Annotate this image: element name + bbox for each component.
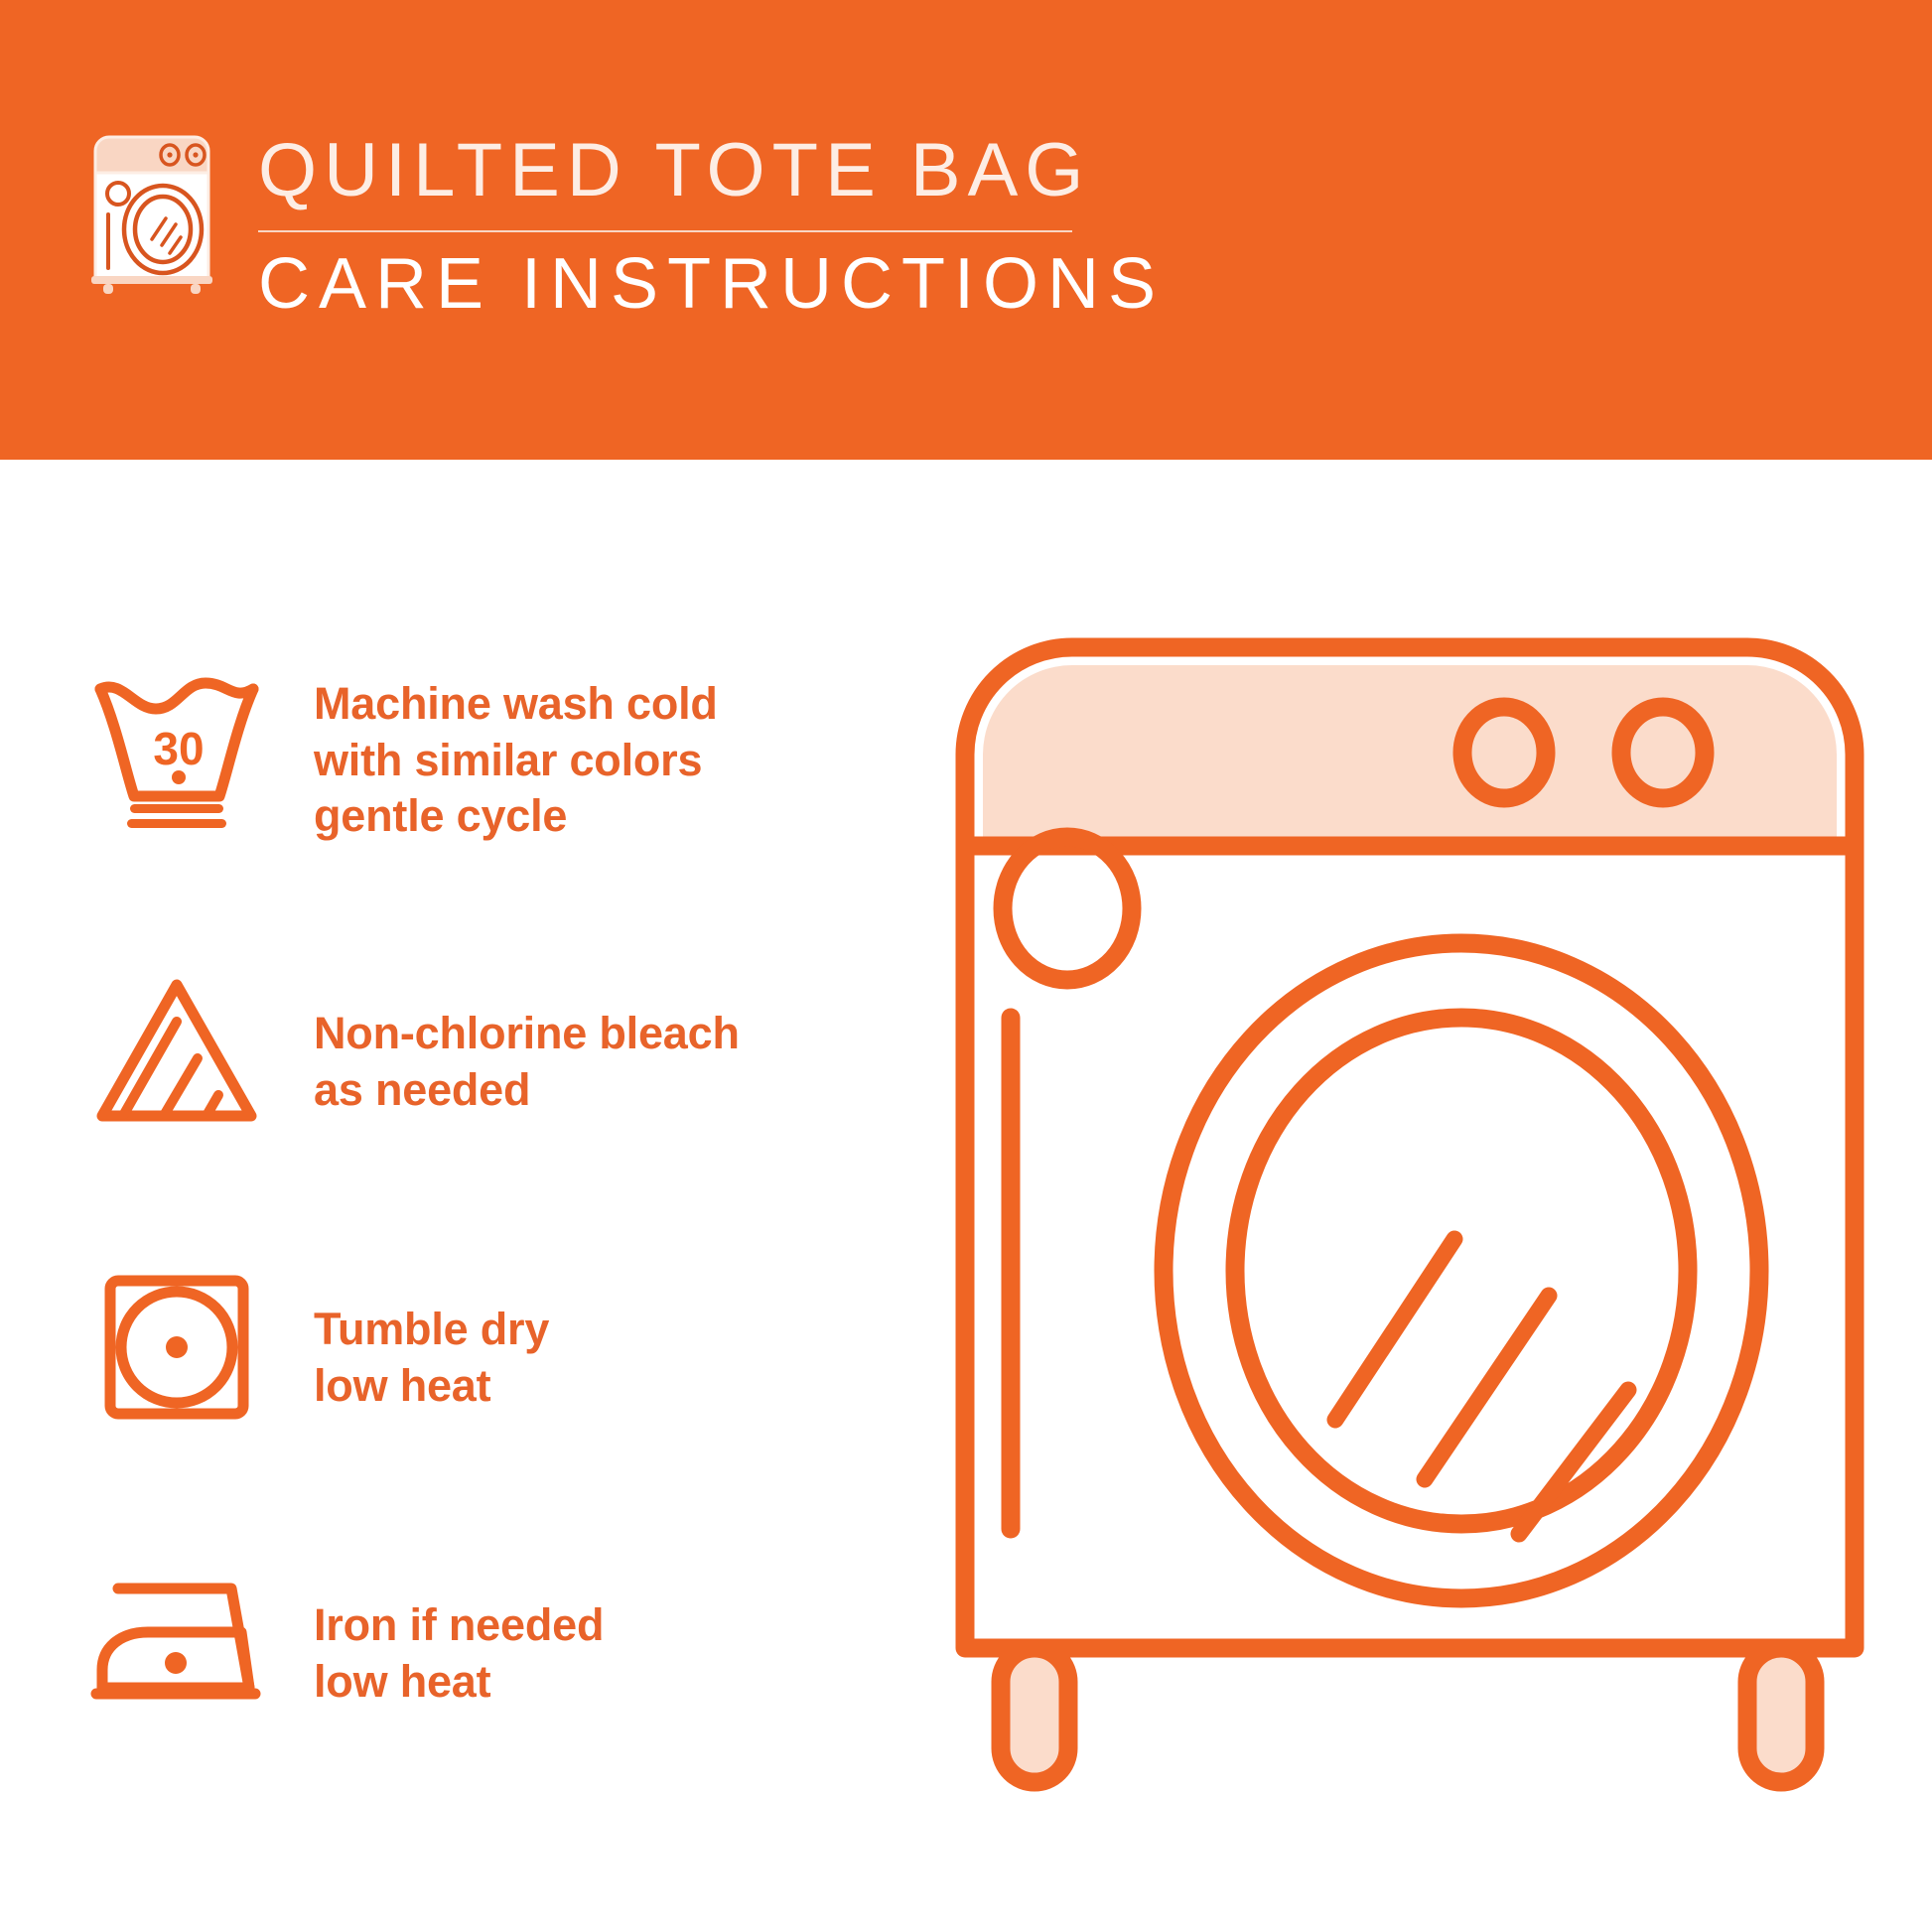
label-line-1: Machine wash cold bbox=[314, 676, 931, 733]
list-item: 30 Machine wash cold with similar colors… bbox=[77, 660, 931, 845]
title-divider bbox=[258, 230, 1072, 232]
knob-right bbox=[1621, 707, 1705, 798]
label-line-3: gentle cycle bbox=[314, 788, 931, 845]
label-line-2: as needed bbox=[314, 1062, 931, 1119]
header-titles: QUILTED TOTE BAG CARE INSTRUCTIONS bbox=[252, 127, 1165, 320]
list-item-label: Machine wash cold with similar colors ge… bbox=[276, 660, 931, 845]
leg-right bbox=[1747, 1648, 1815, 1782]
page-title: QUILTED TOTE BAG bbox=[252, 133, 1090, 208]
page-subtitle: CARE INSTRUCTIONS bbox=[252, 248, 1165, 320]
wash-temperature-label: 30 bbox=[153, 723, 204, 774]
list-item-label: Iron if needed low heat bbox=[276, 1554, 931, 1710]
leg-left bbox=[1001, 1648, 1068, 1782]
list-item-label: Tumble dry low heat bbox=[276, 1258, 931, 1414]
washing-machine-illustration bbox=[953, 635, 1866, 1807]
list-item: Tumble dry low heat bbox=[77, 1258, 931, 1437]
label-line-1: Non-chlorine bleach bbox=[314, 1006, 931, 1062]
label-line-2: with similar colors bbox=[314, 733, 931, 789]
care-instructions-page: QUILTED TOTE BAG CARE INSTRUCTIONS 30 bbox=[0, 0, 1932, 1932]
label-line-1: Tumble dry bbox=[314, 1302, 931, 1358]
label-line-2: low heat bbox=[314, 1358, 931, 1415]
header-content: QUILTED TOTE BAG CARE INSTRUCTIONS bbox=[81, 127, 1165, 320]
machine-wash-30-icon: 30 bbox=[77, 660, 276, 839]
label-line-1: Iron if needed bbox=[314, 1597, 931, 1654]
list-item-label: Non-chlorine bleach as needed bbox=[276, 962, 931, 1118]
iron-low-heat-icon bbox=[77, 1554, 276, 1732]
list-item: Iron if needed low heat bbox=[77, 1554, 931, 1732]
list-item: Non-chlorine bleach as needed bbox=[77, 962, 931, 1141]
tumble-dry-low-icon bbox=[77, 1258, 276, 1437]
non-chlorine-bleach-icon bbox=[77, 962, 276, 1141]
care-instruction-list: 30 Machine wash cold with similar colors… bbox=[77, 660, 931, 1732]
washing-machine-icon bbox=[81, 127, 230, 291]
label-line-2: low heat bbox=[314, 1654, 931, 1711]
header-banner: QUILTED TOTE BAG CARE INSTRUCTIONS bbox=[0, 0, 1932, 460]
knob-left bbox=[1462, 707, 1546, 798]
